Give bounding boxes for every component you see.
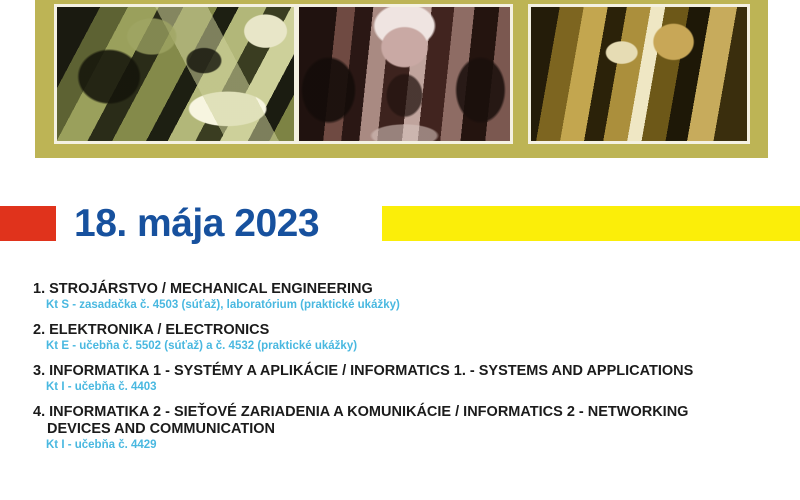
program-item-3-location: Kt I - učebňa č. 4403 [0,380,800,395]
program-item-1: 1. STROJÁRSTVO / MECHANICAL ENGINEERING … [0,281,800,313]
photo-soldiers-computers [54,4,297,144]
photo-officers-briefing [296,4,513,144]
program-item-1-location: Kt S - zasadačka č. 4503 (súťaž), labora… [0,298,800,313]
photo-soldiers-computers-image [57,7,294,141]
photo-strip [35,0,768,158]
yellow-color-block [382,206,800,241]
program-item-4-title-line1: 4. INFORMATIKA 2 - SIEŤOVÉ ZARIADENIA A … [33,404,688,420]
program-item-4: 4. INFORMATIKA 2 - SIEŤOVÉ ZARIADENIA A … [0,404,800,453]
red-color-block [0,206,56,241]
photo-soldier-vehicle [528,4,750,144]
program-item-1-title: 1. STROJÁRSTVO / MECHANICAL ENGINEERING [0,281,800,298]
poster-page: 18. mája 2023 1. STROJÁRSTVO / MECHANICA… [0,0,800,500]
program-item-2-title: 2. ELEKTRONIKA / ELECTRONICS [0,322,800,339]
program-item-4-title: 4. INFORMATIKA 2 - SIEŤOVÉ ZARIADENIA A … [0,404,800,438]
photo-officers-briefing-image [299,7,510,141]
program-item-2: 2. ELEKTRONIKA / ELECTRONICS Kt E - učeb… [0,322,800,354]
program-item-2-location: Kt E - učebňa č. 5502 (súťaž) a č. 4532 … [0,339,800,354]
date-row: 18. mája 2023 [0,206,800,242]
photo-soldier-vehicle-image [531,7,747,141]
program-item-3: 3. INFORMATIKA 1 - SYSTÉMY A APLIKÁCIE /… [0,363,800,395]
program-item-3-title: 3. INFORMATIKA 1 - SYSTÉMY A APLIKÁCIE /… [0,363,800,380]
program-list: 1. STROJÁRSTVO / MECHANICAL ENGINEERING … [0,281,800,462]
event-date: 18. mája 2023 [74,200,319,248]
photo-band [35,0,768,158]
program-item-4-location: Kt I - učebňa č. 4429 [0,438,800,453]
program-item-4-title-line2: DEVICES AND COMMUNICATION [33,421,800,438]
